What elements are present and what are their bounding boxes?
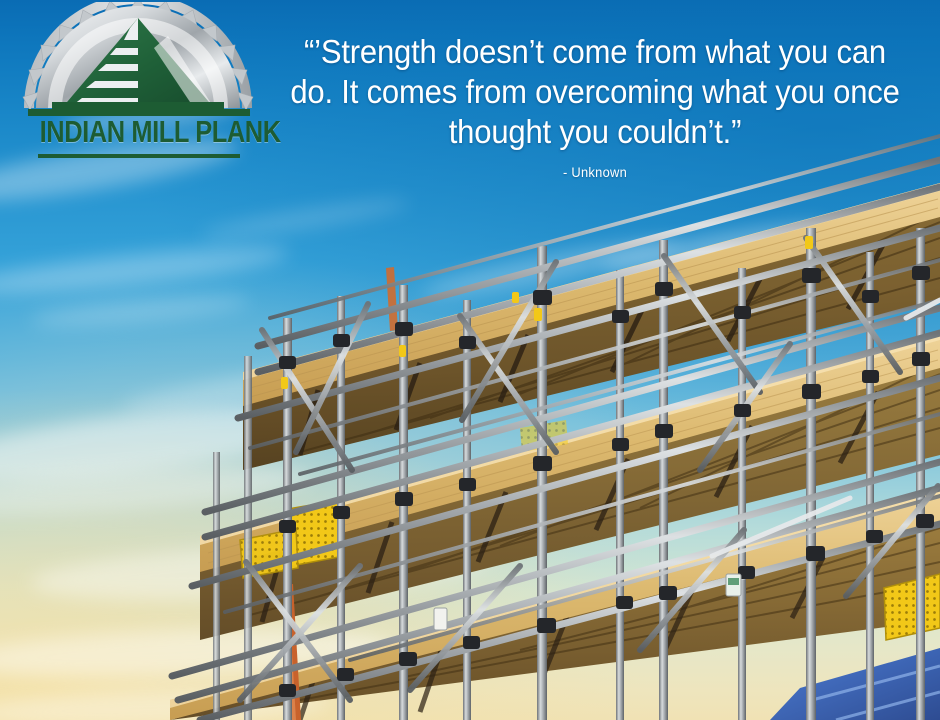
quote-line-3: thought you couldn’t.”: [278, 112, 912, 152]
quote-block: “’Strength doesn’t come from what you ca…: [258, 32, 932, 180]
quote-poster: INDIAN MILL PLANK “’Strength doesn’t com…: [0, 0, 940, 720]
brand-logo[interactable]: INDIAN MILL PLANK: [18, 2, 258, 167]
quote-line-2: do. It comes from overcoming what you on…: [278, 72, 912, 112]
quote-attribution: - Unknown: [285, 164, 905, 180]
sawblade-pyramid-icon: [18, 2, 258, 122]
brand-name: INDIAN MILL PLANK: [40, 114, 237, 150]
quote-line-1: “’Strength doesn’t come from what you ca…: [278, 32, 912, 72]
logo-divider-bottom: [38, 154, 240, 158]
